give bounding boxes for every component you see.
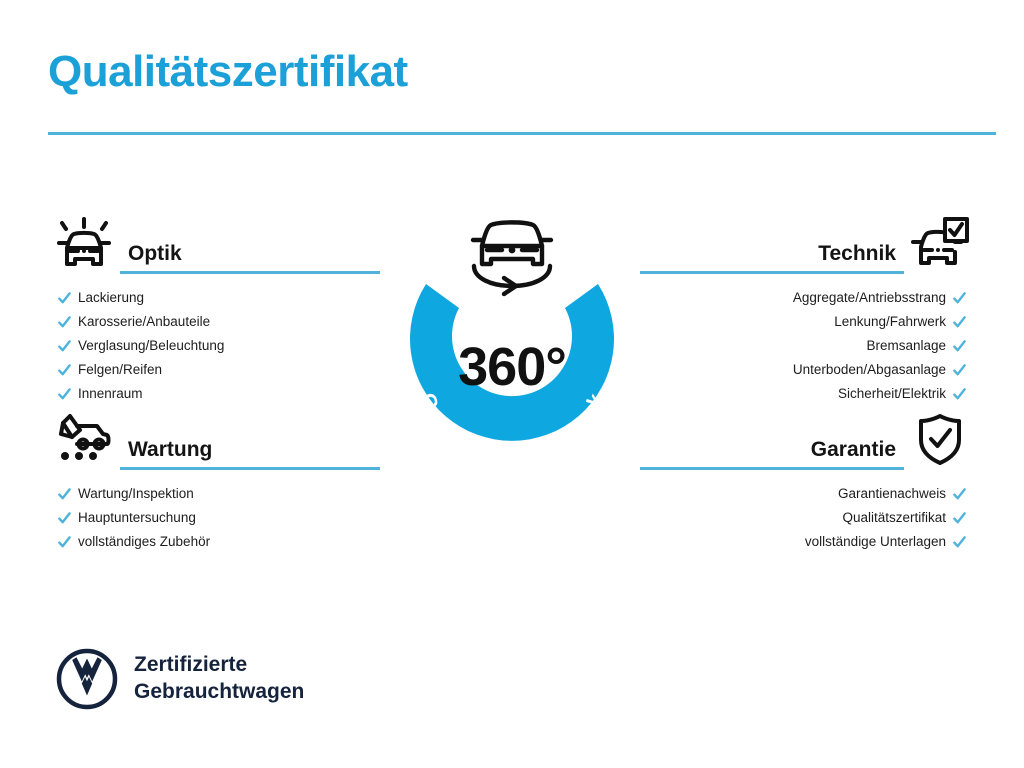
- check-list-garantie: Garantienachweis Qualitätszertifikat vol…: [640, 482, 976, 554]
- list-item-label: Hauptuntersuchung: [78, 511, 196, 525]
- list-item: Verglasung/Beleuchtung: [58, 334, 380, 358]
- section-divider-garantie: [640, 467, 904, 470]
- check-icon: [953, 292, 966, 305]
- list-item: Felgen/Reifen: [58, 358, 380, 382]
- list-item-label: Innenraum: [78, 387, 143, 401]
- section-optik: Optik Lackierung Karosserie/Anbauteile V…: [48, 204, 380, 406]
- car-pen-checklist-icon: [48, 406, 120, 472]
- section-title-optik: Optik: [120, 242, 380, 271]
- check-list-technik: Aggregate/Antriebsstrang Lenkung/Fahrwer…: [640, 286, 976, 406]
- check-icon: [58, 512, 71, 525]
- list-item: Aggregate/Antriebsstrang: [640, 286, 966, 310]
- list-item: Unterboden/Abgasanlage: [640, 358, 966, 382]
- list-item-label: Lenkung/Fahrwerk: [834, 315, 946, 329]
- check-list-optik: Lackierung Karosserie/Anbauteile Verglas…: [48, 286, 380, 406]
- car-shine-icon: [48, 210, 120, 276]
- section-technik: Technik Aggregate/Antriebsstrang Lenkung…: [640, 204, 976, 406]
- list-item: Qualitätszertifikat: [640, 506, 966, 530]
- section-title-wartung: Wartung: [120, 438, 380, 467]
- list-item: Lackierung: [58, 286, 380, 310]
- check-icon: [58, 316, 71, 329]
- vw-logo-text: Zertifizierte Gebrauchtwagen: [134, 652, 304, 706]
- list-item: vollständiges Zubehör: [58, 530, 380, 554]
- vw-certified-logo: Zertifizierte Gebrauchtwagen: [56, 648, 304, 710]
- list-item-label: vollständiges Zubehör: [78, 535, 210, 549]
- check-icon: [58, 292, 71, 305]
- section-garantie: Garantie Garantienachweis Qualitätszerti…: [640, 400, 976, 554]
- list-item-label: Verglasung/Beleuchtung: [78, 339, 224, 353]
- section-wartung: Wartung Wartung/Inspektion Hauptuntersuc…: [48, 400, 380, 554]
- list-item: Hauptuntersuchung: [58, 506, 380, 530]
- section-divider-technik: [640, 271, 904, 274]
- check-icon: [953, 488, 966, 501]
- list-item-label: Garantienachweis: [838, 487, 946, 501]
- vw-logo-line2: Gebrauchtwagen: [134, 679, 304, 706]
- list-item-label: Sicherheit/Elektrik: [838, 387, 946, 401]
- vw-logo-line1: Zertifizierte: [134, 652, 304, 679]
- shield-check-icon: [904, 406, 976, 472]
- vw-logo-icon: [56, 648, 118, 710]
- check-icon: [58, 364, 71, 377]
- list-item-label: Felgen/Reifen: [78, 363, 162, 377]
- check-icon: [58, 536, 71, 549]
- list-item-label: Lackierung: [78, 291, 144, 305]
- check-icon: [953, 340, 966, 353]
- list-item: Karosserie/Anbauteile: [58, 310, 380, 334]
- list-item-label: Unterboden/Abgasanlage: [793, 363, 946, 377]
- header-divider: [48, 132, 996, 135]
- car-checkbox-icon: [904, 210, 976, 276]
- section-title-garantie: Garantie: [640, 438, 904, 467]
- check-icon: [953, 536, 966, 549]
- check-icon: [953, 316, 966, 329]
- check-icon: [953, 364, 966, 377]
- check-icon: [953, 388, 966, 401]
- 360-check-badge: Gebrauchtwagen-Check 360°: [382, 196, 642, 496]
- list-item-label: Qualitätszertifikat: [842, 511, 946, 525]
- section-divider-wartung: [120, 467, 380, 470]
- list-item-label: Bremsanlage: [866, 339, 946, 353]
- section-divider-optik: [120, 271, 380, 274]
- check-icon: [58, 340, 71, 353]
- section-title-technik: Technik: [640, 242, 904, 271]
- list-item: Bremsanlage: [640, 334, 966, 358]
- list-item: Lenkung/Fahrwerk: [640, 310, 966, 334]
- list-item: Garantienachweis: [640, 482, 966, 506]
- check-icon: [953, 512, 966, 525]
- car-rotate-icon: [473, 222, 551, 294]
- check-icon: [58, 488, 71, 501]
- check-list-wartung: Wartung/Inspektion Hauptuntersuchung vol…: [48, 482, 380, 554]
- list-item: vollständige Unterlagen: [640, 530, 966, 554]
- list-item-label: Karosserie/Anbauteile: [78, 315, 210, 329]
- list-item-label: Aggregate/Antriebsstrang: [793, 291, 946, 305]
- list-item-label: vollständige Unterlagen: [805, 535, 946, 549]
- page-title: Qualitätszertifikat: [48, 48, 408, 96]
- list-item: Wartung/Inspektion: [58, 482, 380, 506]
- check-icon: [58, 388, 71, 401]
- list-item-label: Wartung/Inspektion: [78, 487, 194, 501]
- certificate-page: Qualitätszertifikat Optik: [0, 0, 1024, 768]
